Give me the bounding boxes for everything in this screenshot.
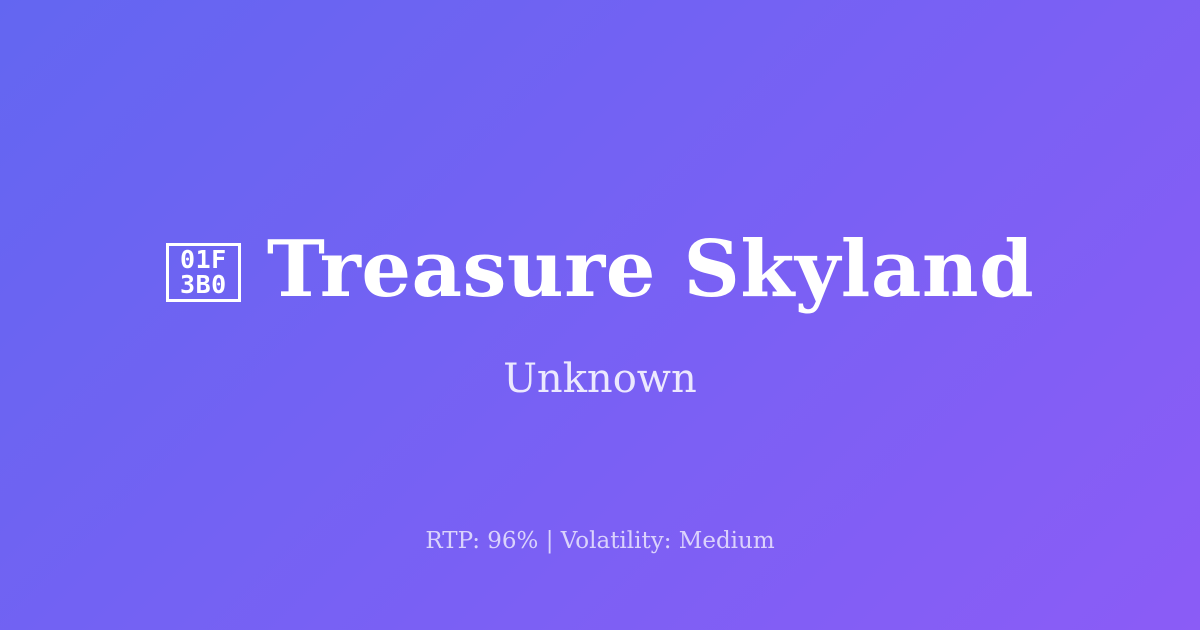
slot-machine-icon: 01F 3B0 — [166, 243, 241, 302]
game-provider-subtitle: Unknown — [503, 359, 697, 399]
og-preview-card: 01F 3B0 Treasure Skyland Unknown RTP: 96… — [0, 0, 1200, 630]
game-meta-line: RTP: 96% | Volatility: Medium — [0, 530, 1200, 553]
title-row: 01F 3B0 Treasure Skyland — [166, 231, 1034, 309]
tofu-codepoint-line-2: 3B0 — [180, 272, 227, 297]
page-title: Treasure Skyland — [267, 231, 1034, 309]
tofu-codepoint-line-1: 01F — [180, 247, 227, 272]
